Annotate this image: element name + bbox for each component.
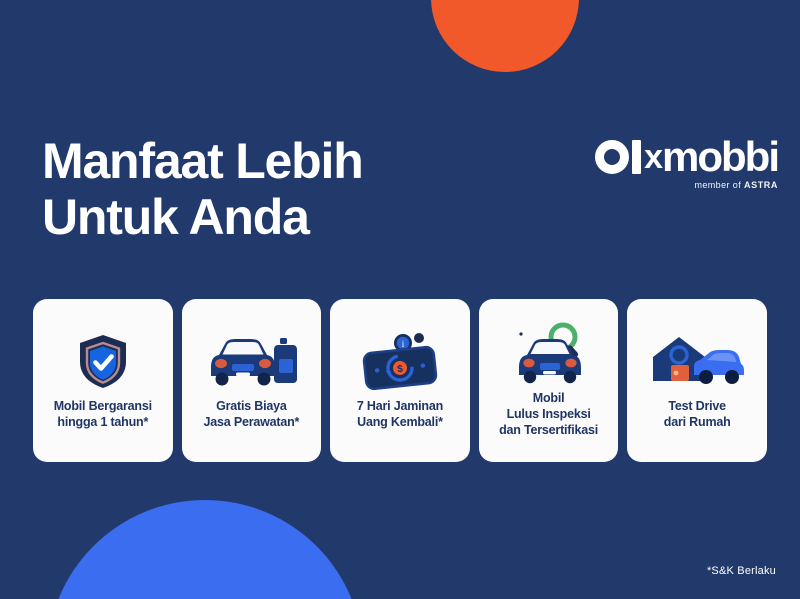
benefit-card-test-drive[interactable]: Test Drive dari Rumah bbox=[627, 299, 767, 462]
benefit-card-list: Mobil Bergaransi hingga 1 tahun* bbox=[33, 299, 767, 462]
terms-footnote: *S&K Berlaku bbox=[707, 565, 776, 577]
car-oil-bottle-icon bbox=[205, 330, 297, 392]
decorative-orange-circle bbox=[431, 0, 579, 72]
benefit-card-label: 7 Hari Jaminan Uang Kembali* bbox=[357, 398, 443, 430]
car-inspection-icon bbox=[509, 322, 589, 384]
benefit-card-label: Gratis Biaya Jasa Perawatan* bbox=[204, 398, 300, 430]
logo-bar-icon bbox=[632, 140, 641, 174]
logo-subtitle-prefix: member of bbox=[694, 180, 744, 190]
decorative-blue-circle bbox=[47, 500, 363, 599]
shield-check-icon bbox=[75, 330, 131, 392]
logo-subtitle-brand: ASTRA bbox=[744, 180, 778, 190]
page-title: Manfaat Lebih Untuk Anda bbox=[42, 133, 363, 245]
benefit-card-money-back[interactable]: i $ 7 Hari Jaminan Uang Kembali* bbox=[330, 299, 470, 462]
logo-x-letter: x bbox=[644, 136, 661, 178]
promo-banner: Manfaat Lebih Untuk Anda x mobbi member … bbox=[0, 0, 800, 599]
brand-logo: x mobbi member of ASTRA bbox=[595, 136, 778, 190]
money-back-icon: i $ bbox=[357, 330, 443, 392]
benefit-card-inspection[interactable]: Mobil Lulus Inspeksi dan Tersertifikasi bbox=[479, 299, 619, 462]
logo-subtitle: member of ASTRA bbox=[595, 180, 778, 190]
logo-word: mobbi bbox=[662, 136, 778, 178]
logo-o-icon bbox=[595, 140, 629, 174]
logo-wordmark: x mobbi bbox=[595, 136, 778, 178]
benefit-card-label: Test Drive dari Rumah bbox=[664, 398, 731, 430]
benefit-card-free-service[interactable]: Gratis Biaya Jasa Perawatan* bbox=[182, 299, 322, 462]
benefit-card-label: Mobil Lulus Inspeksi dan Tersertifikasi bbox=[499, 390, 598, 438]
home-test-drive-icon bbox=[649, 330, 745, 392]
benefit-card-label: Mobil Bergaransi hingga 1 tahun* bbox=[54, 398, 152, 430]
benefit-card-warranty[interactable]: Mobil Bergaransi hingga 1 tahun* bbox=[33, 299, 173, 462]
